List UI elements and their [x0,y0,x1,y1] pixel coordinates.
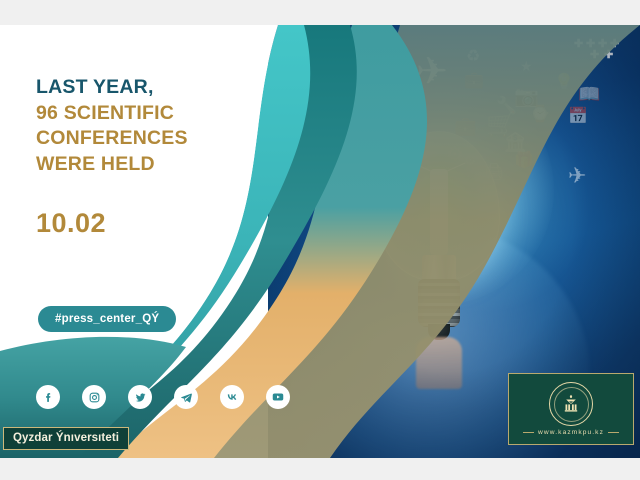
headline-line-2: 96 SCIENTIFIC [36,101,306,127]
headline-line-4: WERE HELD [36,152,306,178]
vk-icon[interactable] [220,385,244,409]
page-root: ✈ ✉ 🎁 📷 🛒 🛒 💼 💼 ⚙ ⚙ ♪ ⌚ 🔧 🖥 📄 📄 💡 📅 🔍 [0,0,640,480]
headline-line-1: LAST YEAR, [36,75,306,101]
logo-website-url: www.kazmkpu.kz [523,429,619,436]
event-date: 10.02 [36,208,306,239]
youtube-icon[interactable] [266,385,290,409]
university-emblem-icon [549,382,593,426]
poster-canvas: ✈ ✉ 🎁 📷 🛒 🛒 💼 💼 ⚙ ⚙ ♪ ⌚ 🔧 🖥 📄 📄 💡 📅 🔍 [0,25,640,458]
instagram-icon[interactable] [82,385,106,409]
twitter-icon[interactable] [128,385,152,409]
social-icon-row [36,385,290,409]
facebook-icon[interactable] [36,385,60,409]
headline-block: LAST YEAR, 96 SCIENTIFIC CONFERENCES WER… [36,75,306,239]
hashtag-badge[interactable]: #press_center_QÝ [38,306,176,332]
university-logo-plate: www.kazmkpu.kz [508,373,634,445]
headline-line-3: CONFERENCES [36,126,306,152]
telegram-icon[interactable] [174,385,198,409]
university-name-banner: Qyzdar Ýnıversıteti [3,427,129,450]
